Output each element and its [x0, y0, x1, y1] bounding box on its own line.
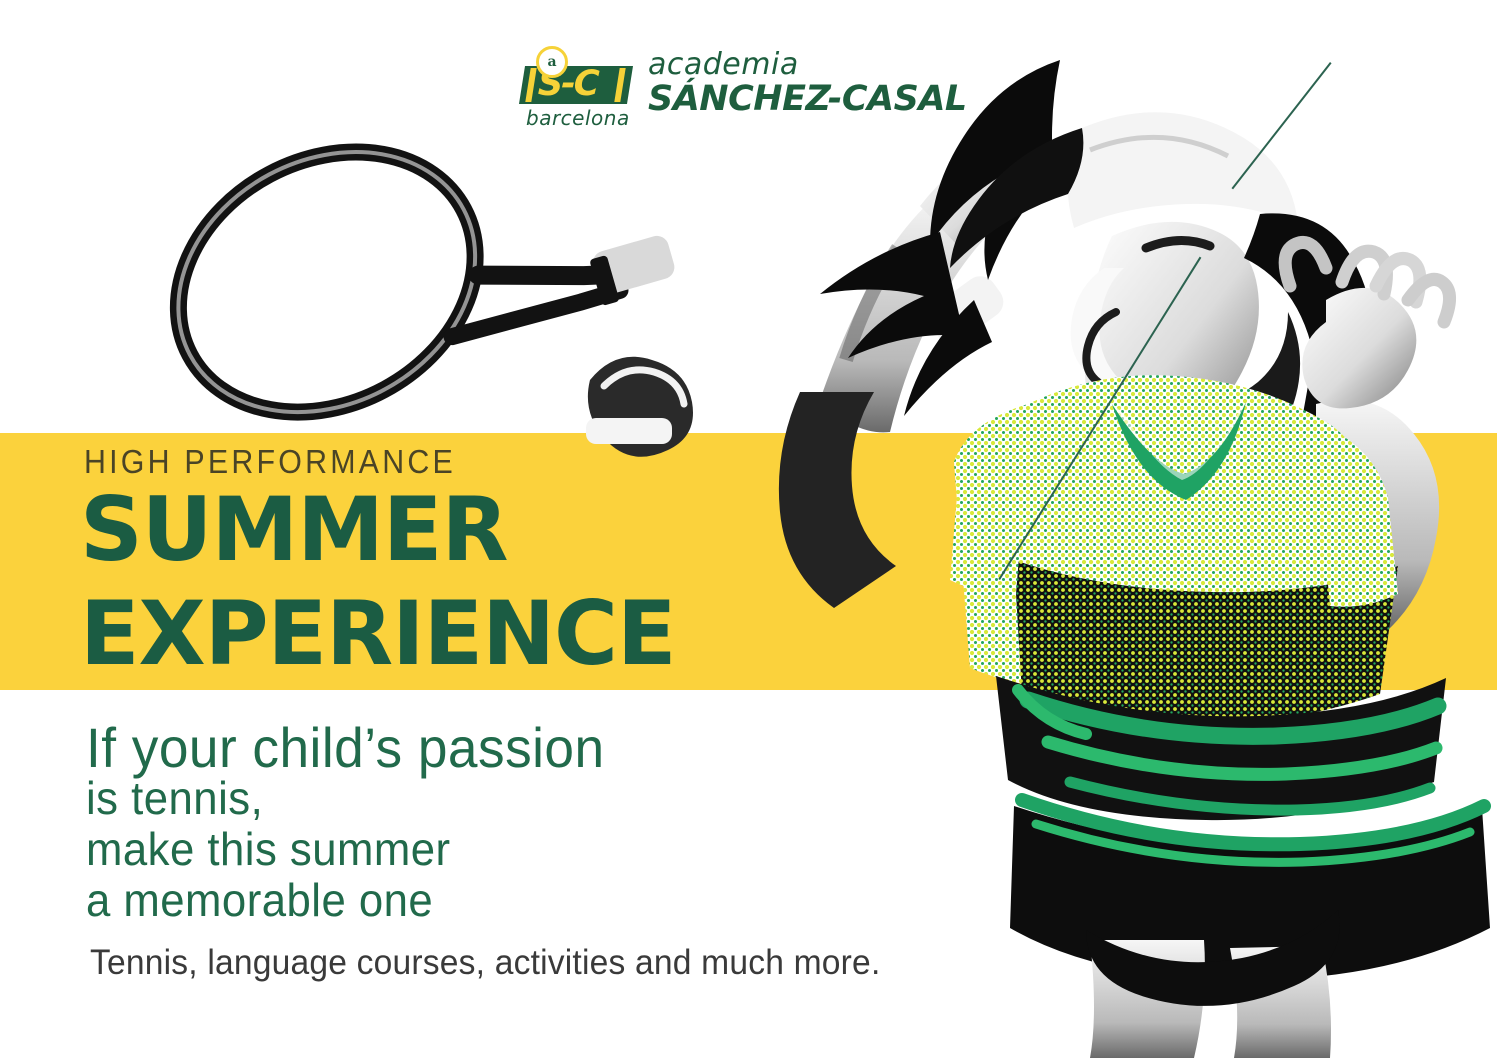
subheadline-line-3: make this summer	[86, 824, 605, 875]
headline-line-1: SUMMER	[80, 478, 676, 582]
poster: S-C a barcelona academia SÁNCHEZ-CASAL	[0, 0, 1497, 1058]
subheadline-line-4: a memorable one	[86, 875, 605, 926]
headline: SUMMER EXPERIENCE	[80, 478, 676, 686]
logo-wordmark: academia SÁNCHEZ-CASAL	[648, 48, 967, 118]
brand-logo[interactable]: S-C a barcelona academia SÁNCHEZ-CASAL	[522, 48, 967, 122]
subheadline: If your child’s passion is tennis, make …	[86, 722, 605, 926]
subheadline-line-2: is tennis,	[86, 773, 605, 824]
subheadline-line-1: If your child’s passion	[86, 722, 605, 773]
headline-line-2: EXPERIENCE	[80, 582, 676, 686]
logo-mark: S-C a barcelona	[522, 48, 634, 122]
tennis-racket-image	[110, 90, 710, 460]
logo-city-label: barcelona	[526, 106, 630, 130]
logo-academia-text: academia	[648, 50, 967, 80]
logo-sanchez-casal-text: SÁNCHEZ-CASAL	[648, 80, 967, 118]
kicker-text: HIGH PERFORMANCE	[84, 444, 456, 480]
diagonal-accent-line-top	[1231, 62, 1331, 189]
tagline: Tennis, language courses, activities and…	[90, 943, 880, 983]
logo-a-badge-icon: a	[536, 46, 568, 78]
